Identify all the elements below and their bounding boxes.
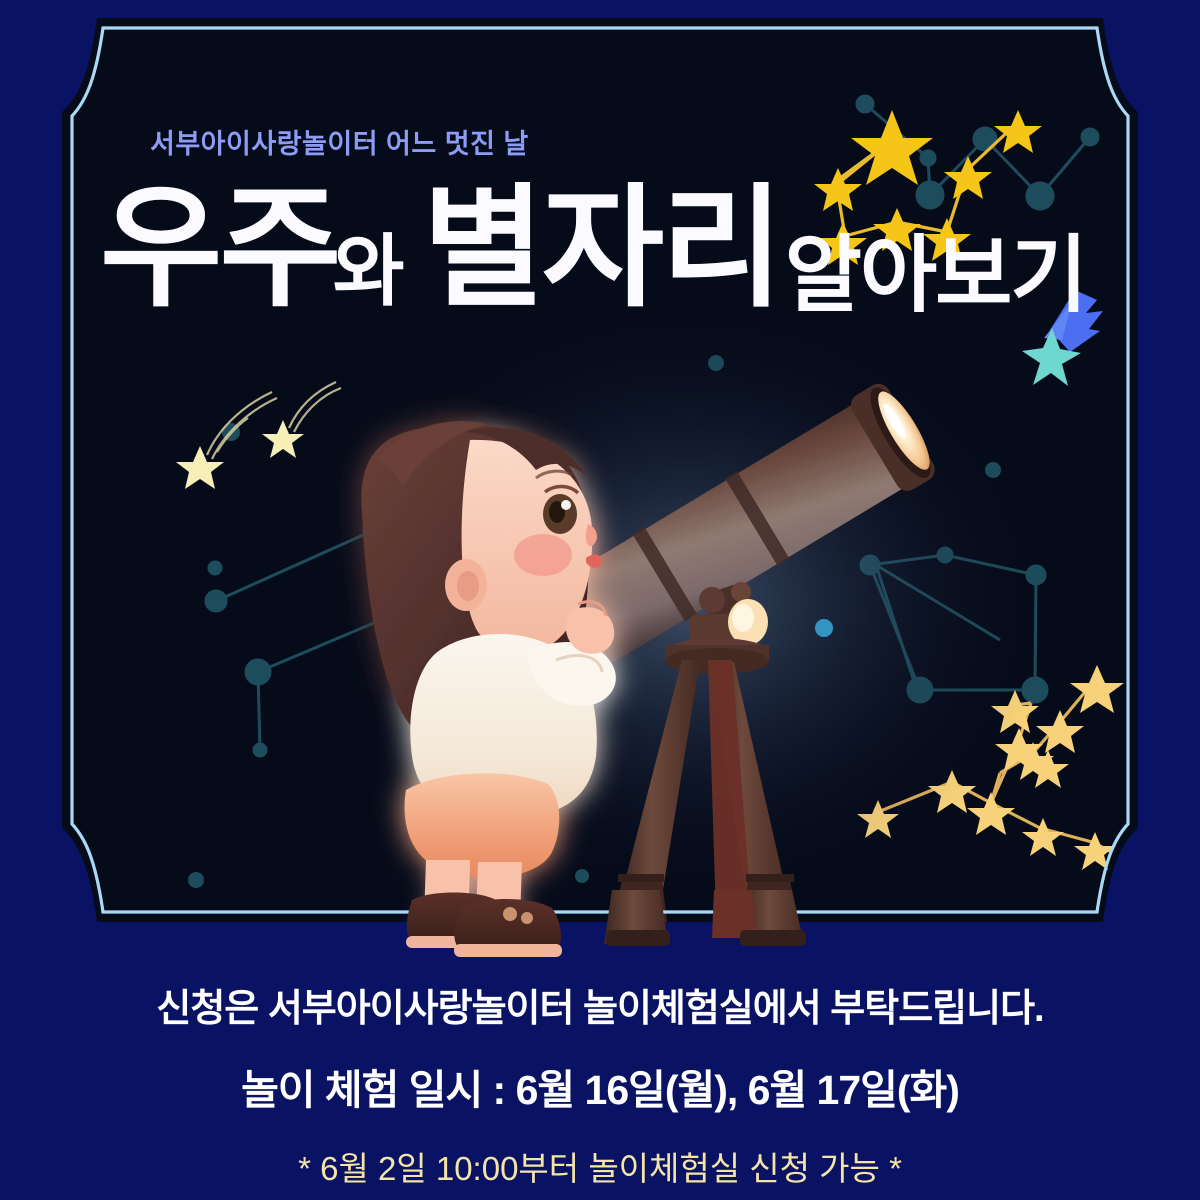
plaque-panel <box>0 0 1200 960</box>
caption-line-2: 놀이 체험 일시 : 6월 16일(월), 6월 17일(화) <box>0 1056 1200 1116</box>
poster-root: 서부아이사랑놀이터 어느 멋진 날 우주 와 별자리 알아보기 신청은 서부아이… <box>0 0 1200 1200</box>
caption-line-3: * 6월 2일 10:00부터 놀이체험실 신청 가능 * <box>0 1142 1200 1190</box>
caption-line-1: 신청은 서부아이사랑놀이터 놀이체험실에서 부탁드립니다. <box>0 977 1200 1032</box>
plaque-shape <box>0 0 1200 960</box>
caption-block: 신청은 서부아이사랑놀이터 놀이체험실에서 부탁드립니다. 놀이 체험 일시 :… <box>0 955 1200 1200</box>
